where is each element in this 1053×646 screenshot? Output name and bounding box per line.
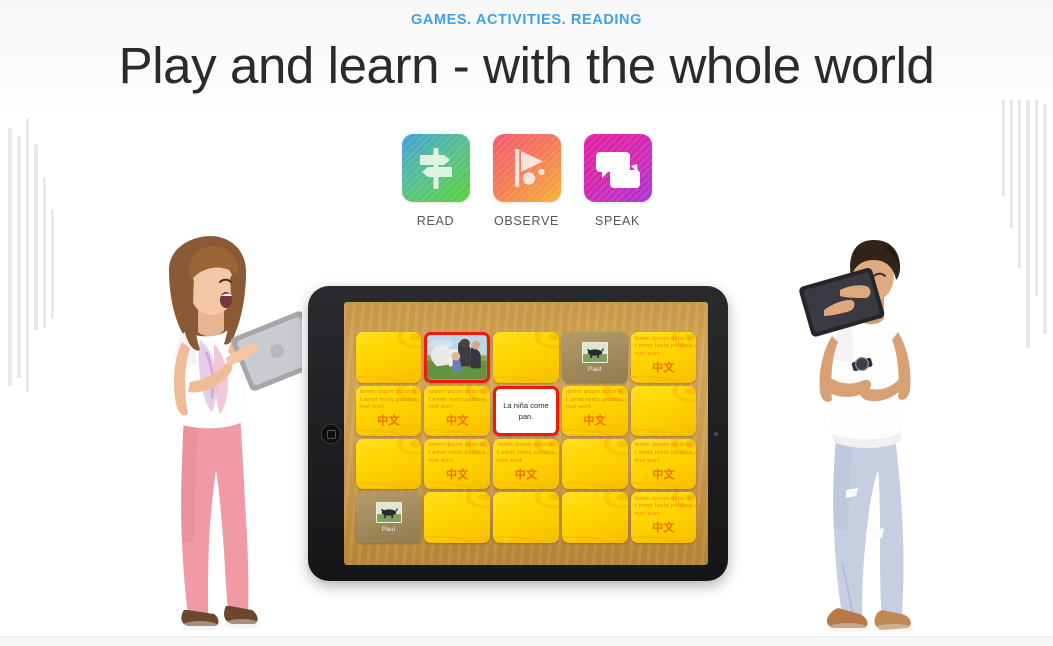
signpost-icon [402, 134, 470, 202]
memory-card-caption: Paul [588, 366, 602, 373]
tablet-device: Paullorem ipsum dolor sit amet texto pal… [308, 286, 728, 581]
memory-card-photo[interactable] [424, 332, 490, 382]
observe-tile[interactable] [493, 134, 561, 202]
feature-list: READ OBSERVE SPEAK [0, 134, 1053, 228]
hero-eyebrow: GAMES. ACTIVITIES. READING [0, 12, 1053, 28]
feature-read-label: READ [402, 214, 470, 228]
memory-card-back[interactable] [424, 492, 490, 542]
memory-card-back-glyphs: lorem ipsum dolor sit amet texto palabra… [424, 386, 490, 436]
memory-card-back[interactable] [356, 332, 422, 382]
tablet-screen[interactable]: Paullorem ipsum dolor sit amet texto pal… [344, 302, 708, 565]
memory-card-back[interactable] [356, 439, 422, 489]
memory-card-back[interactable] [562, 492, 628, 542]
memory-card-sentence: La niña come pan. [501, 400, 551, 422]
girl-with-tablet [122, 232, 302, 632]
memory-card-text[interactable]: La niña come pan. [493, 386, 559, 436]
memory-card-back[interactable]: lorem ipsum dolor sit amet texto palabra… [356, 386, 422, 436]
memory-card-back[interactable] [493, 332, 559, 382]
man-with-tablet-illustration [790, 232, 970, 632]
memory-card-back-glyphs: lorem ipsum dolor sit amet texto palabra… [631, 492, 697, 542]
flag-icon [493, 134, 561, 202]
memory-card-thumbnail [376, 502, 402, 523]
memory-card-back[interactable]: lorem ipsum dolor sit amet texto palabra… [424, 439, 490, 489]
memory-game-grid: Paullorem ipsum dolor sit amet texto pal… [356, 332, 697, 542]
feature-speak[interactable]: SPEAK [584, 134, 652, 228]
memory-card-back[interactable]: lorem ipsum dolor sit amet texto palabra… [631, 492, 697, 542]
speak-tile[interactable] [584, 134, 652, 202]
memory-card-back-glyphs: lorem ipsum dolor sit amet texto palabra… [631, 332, 697, 382]
man-with-tablet [790, 232, 970, 632]
memory-card-back-glyphs: lorem ipsum dolor sit amet texto palabra… [562, 386, 628, 436]
read-tile[interactable] [402, 134, 470, 202]
memory-card-back-glyphs: lorem ipsum dolor sit amet texto palabra… [356, 386, 422, 436]
page-title: Play and learn - with the whole world [0, 36, 1053, 95]
memory-card-back-glyphs: lorem ipsum dolor sit amet texto palabra… [424, 439, 490, 489]
feature-speak-label: SPEAK [584, 214, 652, 228]
speech-bubbles-icon [584, 134, 652, 202]
memory-card-back-glyphs: lorem ipsum dolor sit amet texto palabra… [493, 439, 559, 489]
girl-with-tablet-illustration [122, 232, 302, 632]
feature-read[interactable]: READ [402, 134, 470, 228]
memory-card-thumbnail [582, 342, 608, 363]
memory-card-back[interactable]: lorem ipsum dolor sit amet texto palabra… [424, 386, 490, 436]
front-camera-dot [714, 432, 718, 436]
page-root: GAMES. ACTIVITIES. READING Play and lear… [0, 0, 1053, 646]
bottom-band [0, 636, 1053, 646]
memory-card-matched[interactable]: Paul [562, 332, 628, 382]
memory-card-matched[interactable]: Paul [356, 492, 422, 542]
feature-observe[interactable]: OBSERVE [493, 134, 561, 228]
memory-card-back[interactable]: lorem ipsum dolor sit amet texto palabra… [631, 332, 697, 382]
memory-card-back[interactable] [631, 386, 697, 436]
feature-observe-label: OBSERVE [493, 214, 561, 228]
memory-card-back[interactable]: lorem ipsum dolor sit amet texto palabra… [562, 386, 628, 436]
memory-card-back[interactable] [562, 439, 628, 489]
home-button[interactable] [321, 424, 341, 444]
memory-card-back-glyphs: lorem ipsum dolor sit amet texto palabra… [631, 439, 697, 489]
memory-card-caption: Paul [382, 526, 396, 533]
memory-card-back[interactable]: lorem ipsum dolor sit amet texto palabra… [493, 439, 559, 489]
memory-card-back[interactable] [493, 492, 559, 542]
memory-card-back[interactable]: lorem ipsum dolor sit amet texto palabra… [631, 439, 697, 489]
